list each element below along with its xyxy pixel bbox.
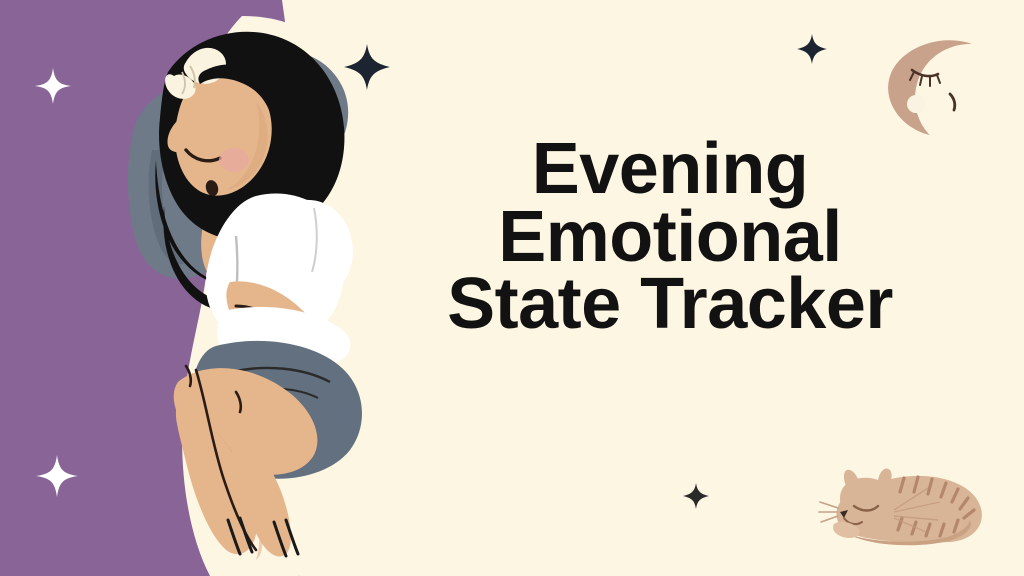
title-line-1: Evening bbox=[358, 136, 982, 204]
poster-canvas: Evening Emotional State Tracker bbox=[0, 0, 1024, 576]
page-title: Evening Emotional State Tracker bbox=[358, 136, 982, 339]
sleeping-cat-illustration bbox=[818, 462, 990, 548]
title-line-2: Emotional bbox=[358, 204, 982, 272]
title-line-3: State Tracker bbox=[358, 271, 982, 339]
sleeping-woman-illustration bbox=[60, 10, 400, 576]
star-dark-bottom-center bbox=[683, 483, 709, 509]
star-dark-top-right bbox=[797, 34, 827, 64]
sleeping-crescent-moon-icon bbox=[872, 26, 984, 138]
